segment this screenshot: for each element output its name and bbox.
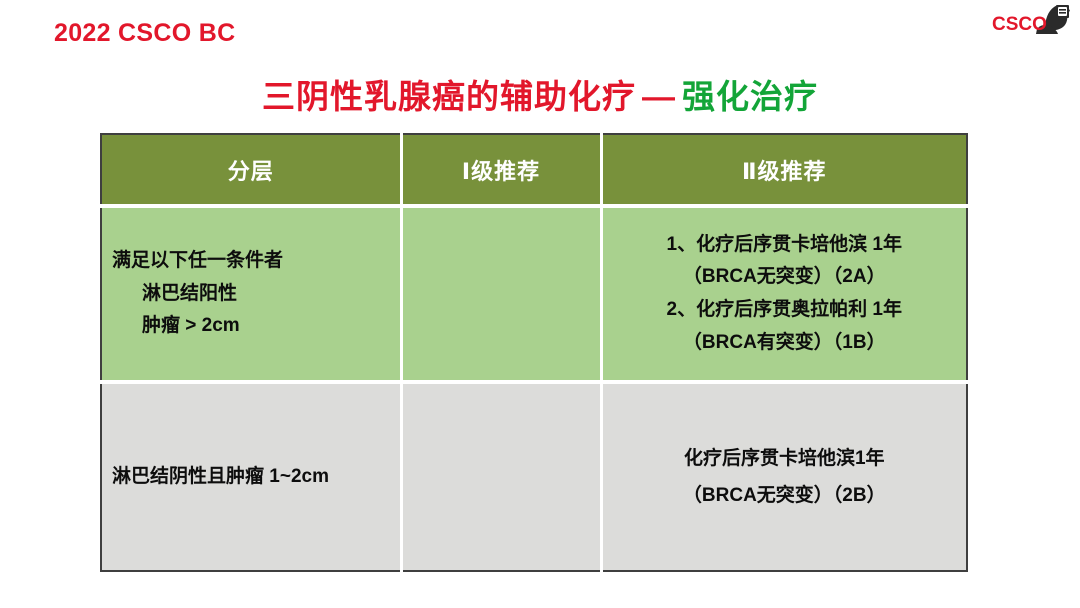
recommendation-1-sub: （BRCA无突变）（2A） <box>609 261 961 294</box>
column-header-level-1: Ⅰ级推荐 <box>401 134 601 206</box>
recommendation-1-main: 化疗后序贯卡培他滨1年 <box>609 440 961 477</box>
table-row: 满足以下任一条件者 淋巴结阳性 肿瘤 > 2cm 1、化疗后序贯卡培他滨 1年 … <box>101 206 967 382</box>
recommendation-1-main: 1、化疗后序贯卡培他滨 1年 <box>609 229 961 262</box>
csco-logo: CSCO <box>990 2 1074 42</box>
page-title-primary: 三阴性乳腺癌的辅助化疗 <box>262 78 636 115</box>
column-header-stratification: 分层 <box>101 134 401 206</box>
stratification-line-1: 满足以下任一条件者 <box>112 245 399 278</box>
cell-level-2-row-1: 1、化疗后序贯卡培他滨 1年 （BRCA无突变）（2A） 2、化疗后序贯奥拉帕利… <box>601 206 967 382</box>
table-header-row: 分层 Ⅰ级推荐 Ⅱ级推荐 <box>101 134 967 206</box>
stratification-line-3: 肿瘤 > 2cm <box>112 310 399 343</box>
cell-level-2-row-2: 化疗后序贯卡培他滨1年 （BRCA无突变）（2B） <box>601 382 967 571</box>
stratification-line-2: 淋巴结阳性 <box>112 278 399 311</box>
recommendation-1-sub: （BRCA无突变）（2B） <box>609 477 961 514</box>
recommendation-table: 分层 Ⅰ级推荐 Ⅱ级推荐 满足以下任一条件者 淋巴结阳性 肿瘤 > 2cm 1、… <box>100 133 968 572</box>
page-title-highlight: 强化治疗 <box>682 78 818 115</box>
page-title-dash: — <box>636 78 682 115</box>
recommendation-2-main: 2、化疗后序贯奥拉帕利 1年 <box>609 294 961 327</box>
csco-wordmark: CSCO <box>992 14 1047 35</box>
recommendation-2-sub: （BRCA有突变）（1B） <box>609 327 961 360</box>
cell-stratification-row-1: 满足以下任一条件者 淋巴结阳性 肿瘤 > 2cm <box>101 206 401 382</box>
page-title: 三阴性乳腺癌的辅助化疗—强化治疗 <box>0 70 1080 118</box>
slide-kicker: 2022 CSCO BC <box>54 19 235 48</box>
column-header-level-2: Ⅱ级推荐 <box>601 134 967 206</box>
cell-stratification-row-2: 淋巴结阴性且肿瘤 1~2cm <box>101 382 401 571</box>
cell-level-1-row-2 <box>401 382 601 571</box>
table-row: 淋巴结阴性且肿瘤 1~2cm 化疗后序贯卡培他滨1年 （BRCA无突变）（2B） <box>101 382 967 571</box>
cell-level-1-row-1 <box>401 206 601 382</box>
